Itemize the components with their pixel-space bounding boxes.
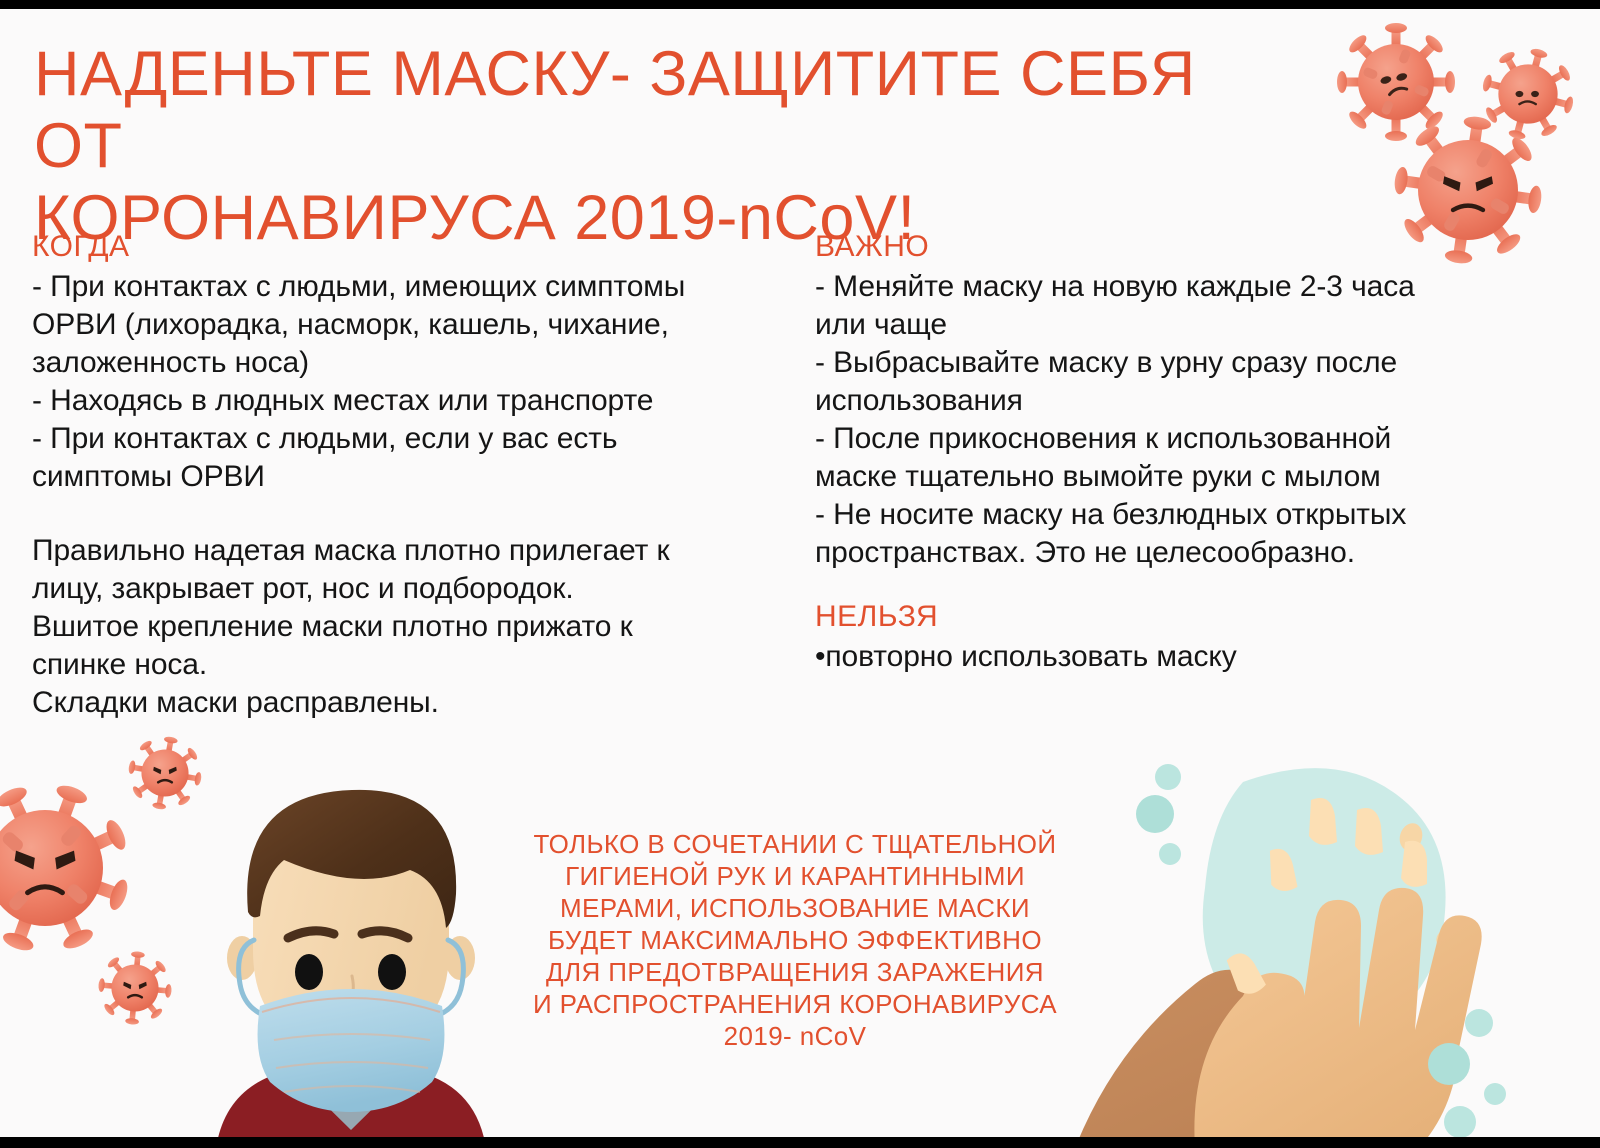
letterbox-bar-top [0,0,1600,9]
column-spacer [32,496,792,532]
proper-fit-paragraph: Правильно надетая маска плотно прилегает… [32,532,792,722]
handwashing-illustration [1075,742,1600,1148]
soap-bubble [1465,1009,1493,1037]
callout-text: ТОЛЬКО В СОЧЕТАНИИ С ТЩАТЕЛЬНОЙ ГИГИЕНОЙ… [455,828,1135,1052]
coronavirus-cluster-bottom-left-icon [0,718,260,1028]
when-list: - При контактах с людьми, имеющих симпто… [32,268,792,496]
when-column: КОГДА - При контактах с людьми, имеющих … [32,228,792,722]
important-heading: ВАЖНО [815,228,1525,266]
important-list: - Меняйте маску на новую каждые 2-3 часа… [815,268,1525,572]
soap-bubble [1444,1106,1476,1138]
soap-bubble [1155,764,1181,790]
important-column: ВАЖНО - Меняйте маску на новую каждые 2-… [815,228,1525,676]
soap-bubble [1428,1043,1470,1085]
forbidden-heading: НЕЛЬЗЯ [815,598,1525,636]
forbidden-list: •повторно использовать маску [815,638,1525,676]
soap-bubble [1159,843,1181,865]
column-spacer-2 [815,572,1525,598]
soap-bubble [1484,1083,1506,1105]
when-heading: КОГДА [32,228,792,266]
page-title: НАДЕНЬТЕ МАСКУ- ЗАЩИТИТЕ СЕБЯ ОТ КОРОНАВ… [34,38,1294,254]
poster-canvas: НАДЕНЬТЕ МАСКУ- ЗАЩИТИТЕ СЕБЯ ОТ КОРОНАВ… [0,0,1600,1148]
letterbox-bar-bottom [0,1137,1600,1148]
soap-bubble [1136,795,1174,833]
